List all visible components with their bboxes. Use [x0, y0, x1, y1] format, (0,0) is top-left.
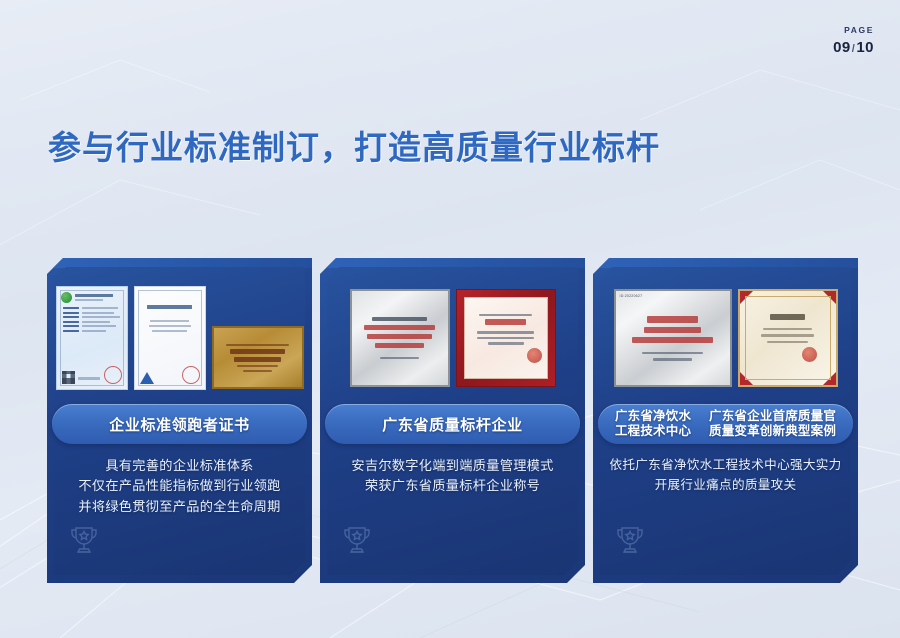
certificate-inner: [464, 297, 548, 379]
card-body-1: 具有完善的企业标准体系 不仅在产品性能指标做到行业领跑 并将绿色贯彻至产品的全生…: [61, 456, 298, 517]
card-body-line: 开展行业痛点的质量攻关: [607, 476, 844, 496]
certificate-content: [746, 297, 830, 379]
page-indicator: PAGE 09/10: [833, 26, 874, 56]
card-label-line: 广东省企业首席质量官: [709, 409, 836, 424]
trophy-icon: [64, 521, 104, 561]
page-label: PAGE: [833, 26, 874, 35]
card-corner-accent: [527, 525, 585, 583]
certificate-field-rows: [61, 307, 123, 332]
card-top-band: [593, 258, 858, 268]
slide-canvas: PAGE 09/10 参与行业标准制订，打造高质量行业标杆: [0, 0, 900, 638]
card-label-line: 广东省净饮水: [615, 409, 691, 424]
card-label-line: 质量变革创新典型案例: [709, 424, 836, 439]
certificate-footer: [140, 366, 200, 384]
red-seal-icon: [802, 347, 817, 362]
card-label-3-right: 广东省企业首席质量官 质量变革创新典型案例: [709, 409, 836, 439]
red-seal-icon: [527, 348, 542, 363]
certificate-footer: [62, 366, 122, 384]
certificate-image-research-center-plaque: ID:20220627: [614, 289, 732, 387]
card-label-split: 广东省净饮水 工程技术中心 广东省企业首席质量官 质量变革创新典型案例: [598, 409, 853, 439]
card-label-line: 工程技术中心: [615, 424, 691, 439]
certificate-card-1[interactable]: 企业标准领跑者证书 具有完善的企业标准体系 不仅在产品性能指标做到行业领跑 并将…: [47, 258, 312, 583]
certificate-image-honor-cert: [456, 289, 556, 387]
page-number: 09/10: [833, 39, 874, 56]
card-label-2: 广东省质量标杆企业: [382, 414, 522, 435]
card-body-line: 不仅在产品性能指标做到行业领跑: [61, 476, 298, 496]
card-group: 企业标准领跑者证书 具有完善的企业标准体系 不仅在产品性能指标做到行业领跑 并将…: [47, 258, 859, 583]
card-label-pill-3[interactable]: 广东省净饮水 工程技术中心 广东省企业首席质量官 质量变革创新典型案例: [598, 404, 853, 444]
certificate-header: [61, 291, 123, 304]
card-top-band: [47, 258, 312, 268]
trophy-icon: [337, 521, 377, 561]
red-seal-icon: [104, 366, 122, 384]
certificate-images-3: ID:20220627: [607, 280, 844, 396]
card-body-3: 依托广东省净饮水工程技术中心强大实力 开展行业痛点的质量攻关: [607, 456, 844, 495]
card-corner-accent: [800, 525, 858, 583]
card-body-2: 安吉尔数字化端到端质量管理模式 荣获广东省质量标杆企业称号: [334, 456, 571, 497]
card-label-pill-2[interactable]: 广东省质量标杆企业: [325, 404, 580, 444]
certificate-card-3[interactable]: ID:20220627: [593, 258, 858, 583]
certificate-images-1: [61, 280, 298, 396]
page-total: 10: [856, 39, 874, 56]
card-body-line: 依托广东省净饮水工程技术中心强大实力: [607, 456, 844, 476]
certificate-image-leader-cert: [134, 286, 206, 390]
company-logo-icon: [140, 372, 154, 384]
card-top-band: [320, 258, 585, 268]
certificate-image-product-cert: [56, 286, 128, 390]
certificate-images-2: [334, 280, 571, 396]
card-corner-accent: [254, 525, 312, 583]
card-label-3-left: 广东省净饮水 工程技术中心: [615, 409, 691, 439]
card-body-line: 并将绿色贯彻至产品的全生命周期: [61, 497, 298, 517]
certificate-card-2[interactable]: 广东省质量标杆企业 安吉尔数字化端到端质量管理模式 荣获广东省质量标杆企业称号: [320, 258, 585, 583]
certificate-title-bars: [75, 294, 123, 301]
certificate-image-gold-plaque: [212, 326, 304, 389]
green-logo-icon: [61, 292, 72, 303]
certificate-image-silver-plate: [350, 289, 450, 387]
page-current: 09: [833, 39, 851, 56]
red-seal-icon: [182, 366, 200, 384]
card-label-pill-1[interactable]: 企业标准领跑者证书: [52, 404, 307, 444]
card-body-line: 安吉尔数字化端到端质量管理模式: [334, 456, 571, 476]
page-title: 参与行业标准制订，打造高质量行业标杆: [48, 121, 660, 169]
trophy-icon: [610, 521, 650, 561]
card-label-1: 企业标准领跑者证书: [109, 414, 249, 435]
certificate-image-honor-certificate: [738, 289, 838, 387]
plaque-id-text: ID:20220627: [620, 294, 643, 298]
card-body-line: 具有完善的企业标准体系: [61, 456, 298, 476]
qr-code-icon: [62, 371, 75, 384]
card-body-line: 荣获广东省质量标杆企业称号: [334, 476, 571, 496]
